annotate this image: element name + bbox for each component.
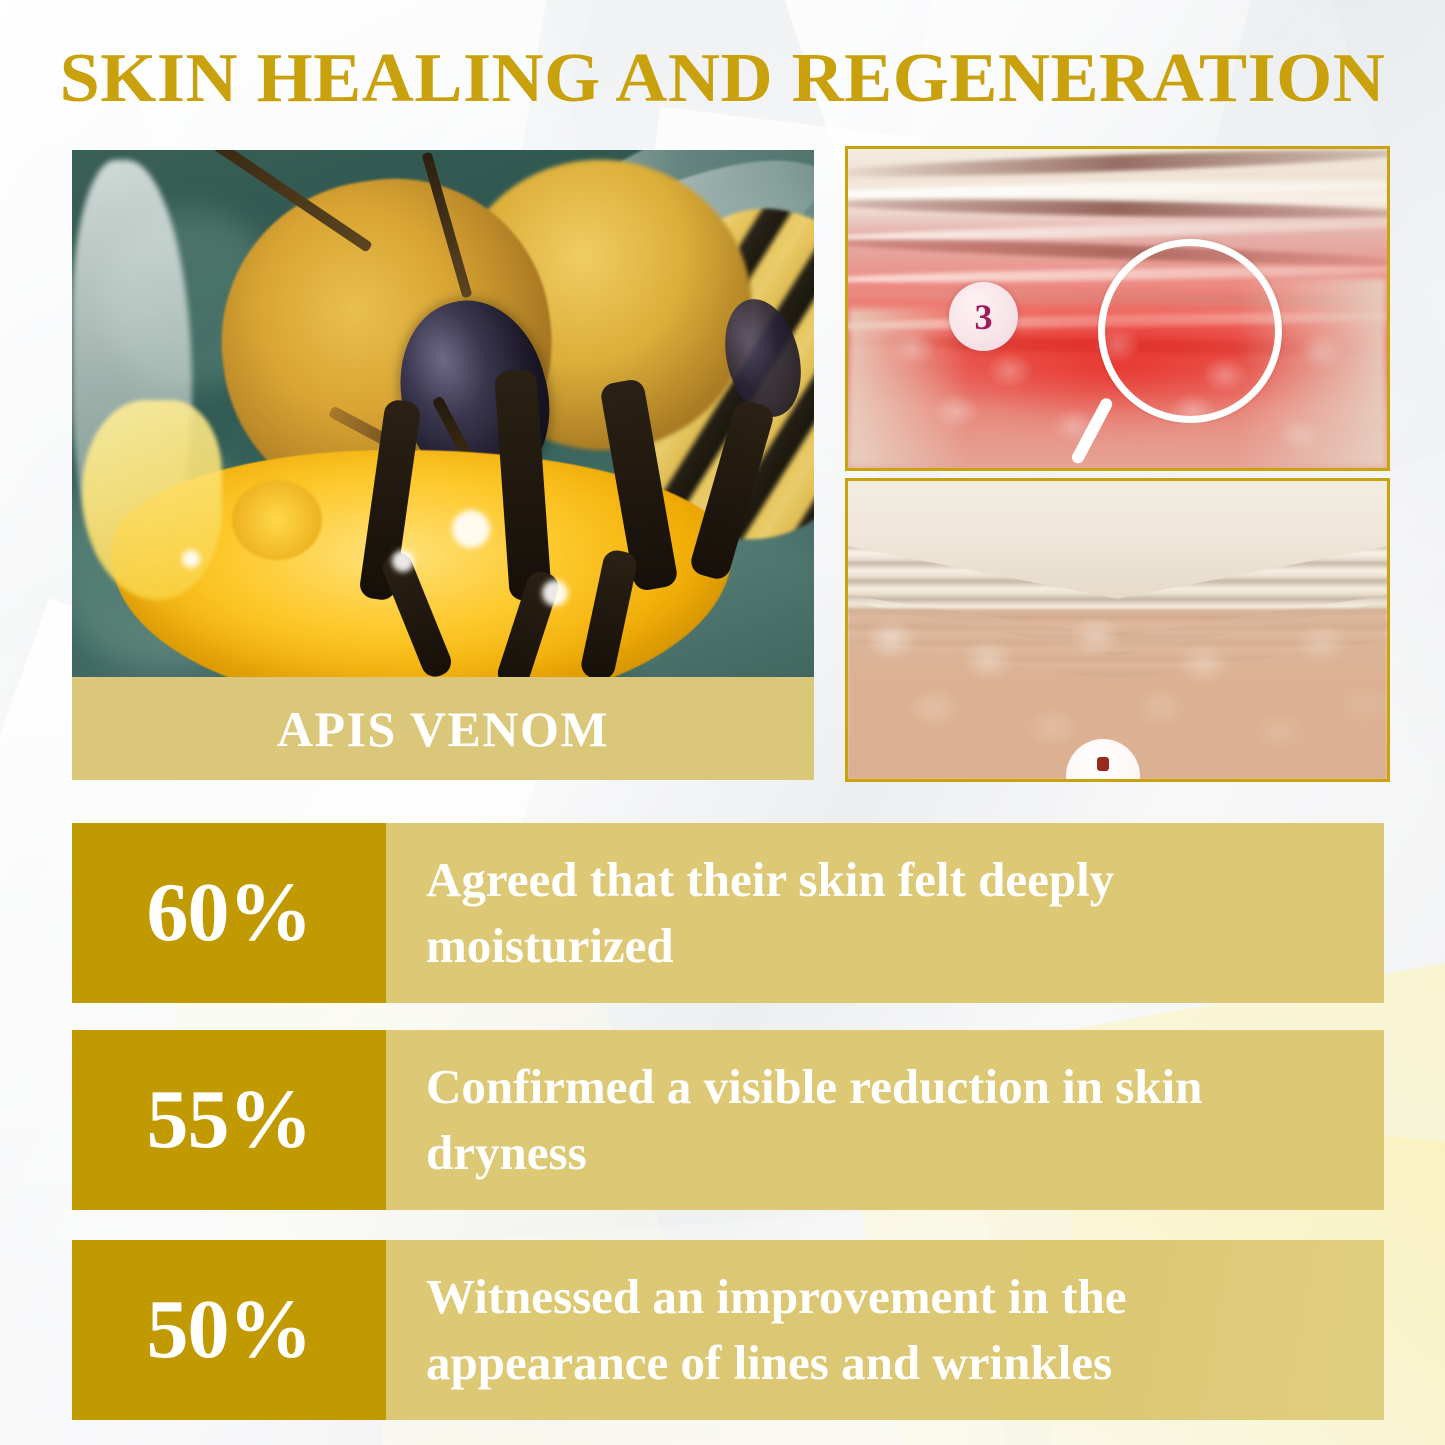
stat-percent-block: 60%	[72, 823, 386, 1003]
apis-venom-caption-bar: APIS VENOM	[72, 677, 814, 780]
honey-highlight	[452, 510, 490, 548]
honey-highlight	[182, 550, 200, 568]
apis-venom-caption: APIS VENOM	[277, 700, 609, 758]
bee-image-panel: APIS VENOM	[72, 150, 814, 780]
bee-photo	[72, 150, 814, 677]
step-badge-icon: 3	[949, 282, 1018, 351]
stat-percent-block: 50%	[72, 1240, 386, 1420]
magnifier-icon	[1098, 239, 1282, 423]
stat-row: 55% Confirmed a visible reduction in ski…	[72, 1030, 1384, 1210]
epidermis-layer	[845, 178, 1390, 202]
stat-description: Witnessed an improvement in the appearan…	[426, 1264, 1350, 1395]
pollen-cluster	[232, 480, 322, 560]
stat-percent-value: 60%	[147, 871, 312, 955]
healthy-skin-image	[845, 478, 1390, 782]
skin-edge-shading	[848, 308, 968, 468]
stat-row: 60% Agreed that their skin felt deeply m…	[72, 823, 1384, 1003]
inflamed-skin-image: 3	[845, 146, 1390, 471]
stat-description: Agreed that their skin felt deeply moist…	[426, 847, 1350, 978]
skin-cross-section-healthy	[848, 481, 1387, 779]
step-badge-number: 3	[975, 299, 993, 335]
stat-description-block: Confirmed a visible reduction in skin dr…	[386, 1030, 1384, 1210]
stat-row: 50% Witnessed an improvement in the appe…	[72, 1240, 1384, 1420]
stat-description-block: Witnessed an improvement in the appearan…	[386, 1240, 1384, 1420]
stat-description-block: Agreed that their skin felt deeply moist…	[386, 823, 1384, 1003]
stat-percent-value: 50%	[147, 1288, 312, 1372]
epidermis-layer	[845, 196, 1390, 222]
honey-highlight	[392, 550, 414, 572]
stat-percent-block: 55%	[72, 1030, 386, 1210]
poster-root: SKIN HEALING AND REGENERATION	[0, 0, 1445, 1445]
page-title: SKIN HEALING AND REGENERATION	[0, 44, 1445, 114]
skin-cross-section-inflamed: 3	[848, 149, 1387, 468]
honey-highlight	[542, 580, 568, 606]
epidermis-layer	[845, 146, 1390, 182]
stat-description: Confirmed a visible reduction in skin dr…	[426, 1054, 1350, 1185]
epidermis-layer	[845, 234, 1390, 269]
badge-marker-icon	[1097, 757, 1109, 771]
stat-percent-value: 55%	[147, 1078, 312, 1162]
